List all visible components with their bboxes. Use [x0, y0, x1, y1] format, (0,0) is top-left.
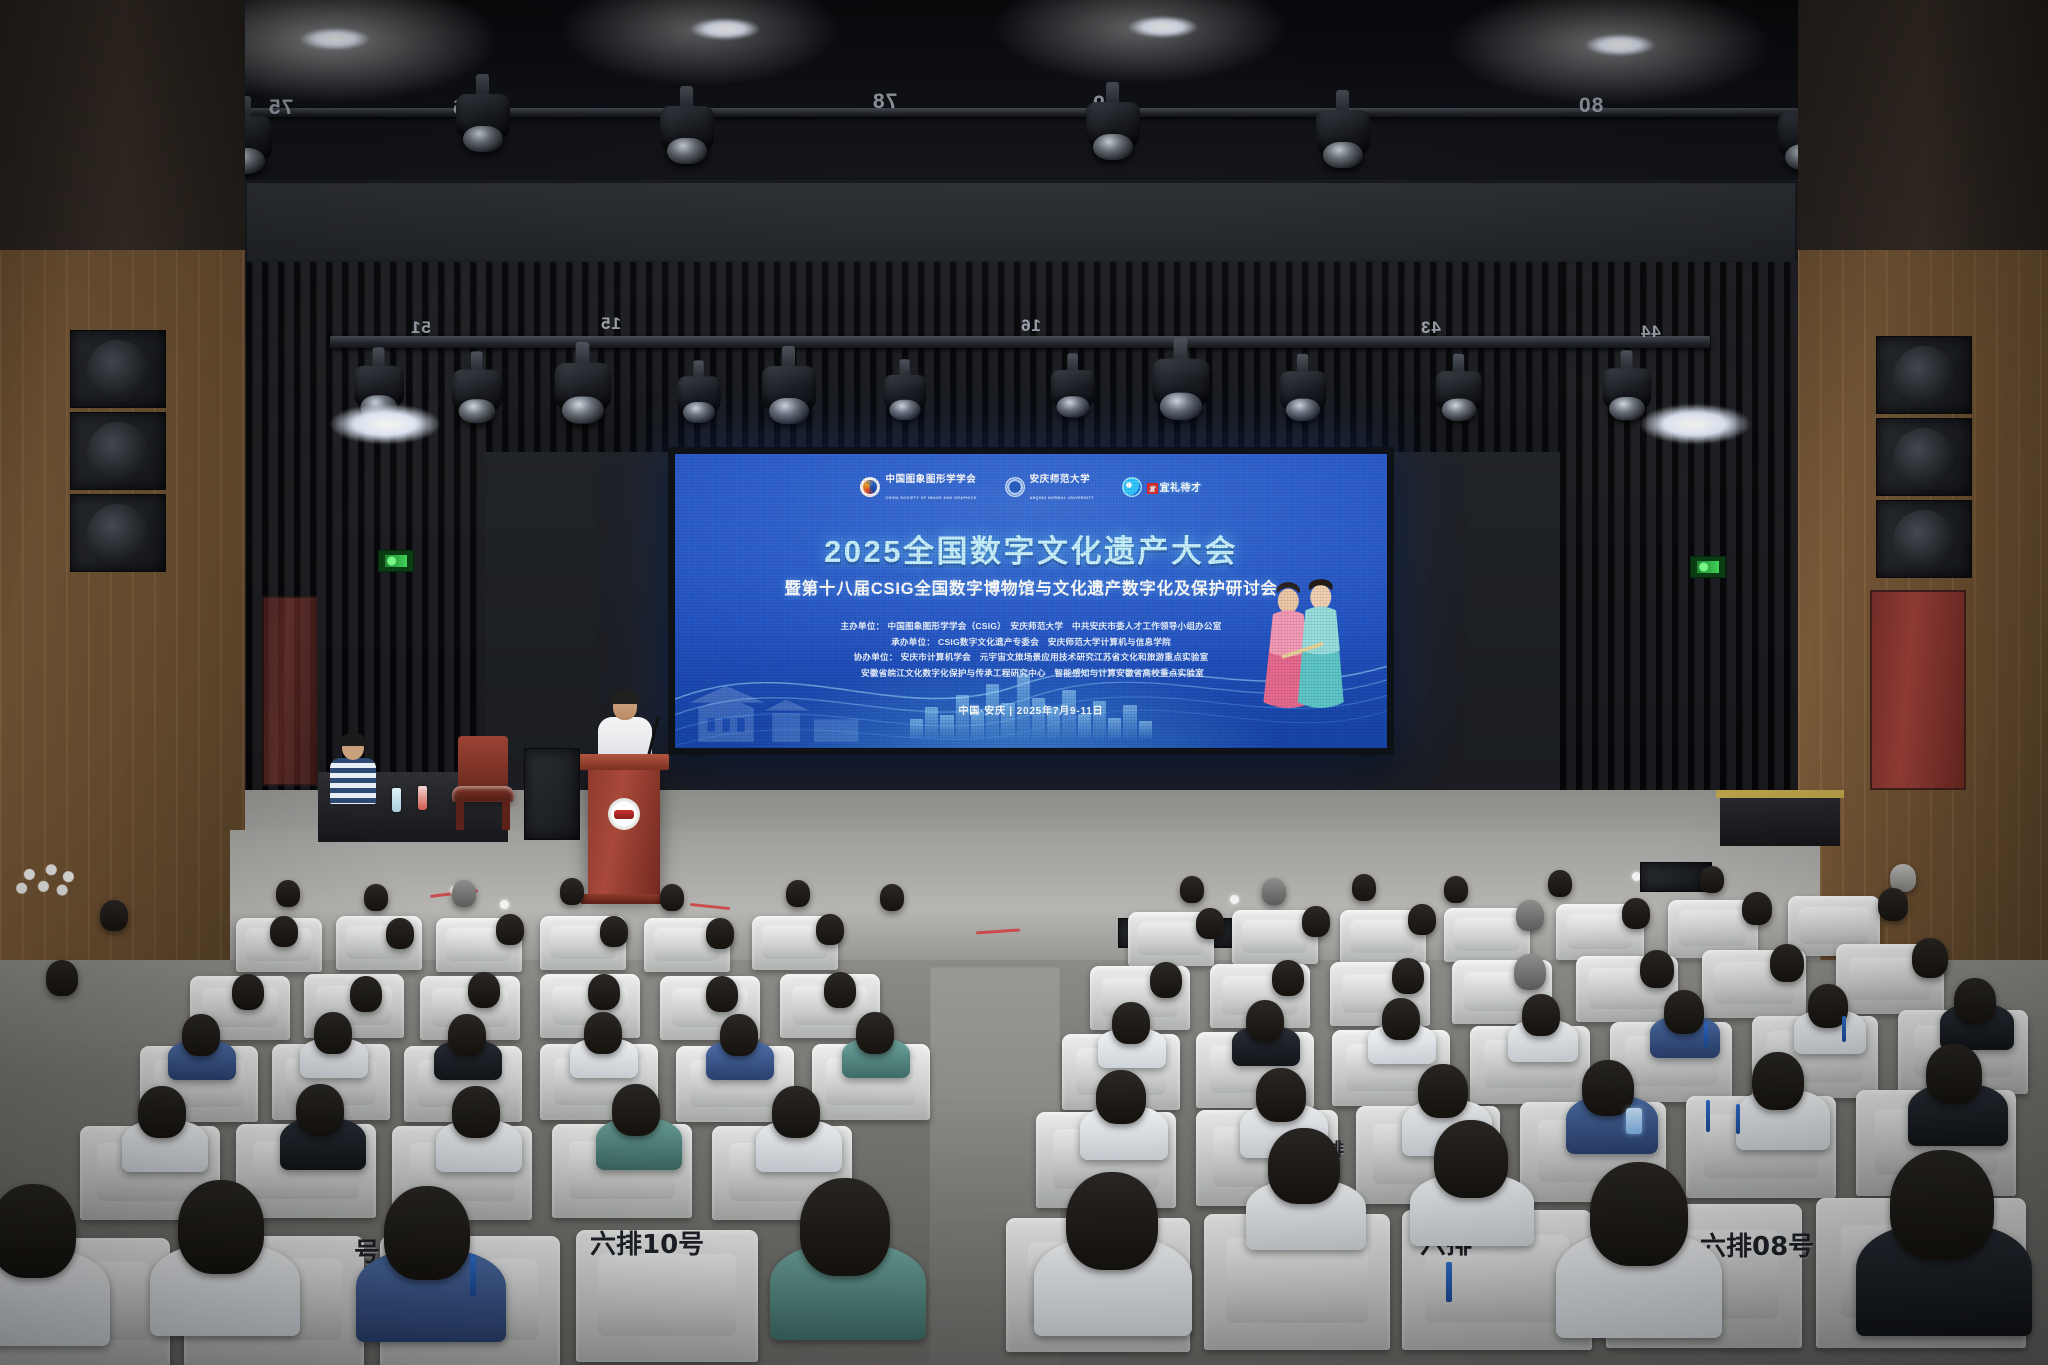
moving-head-light	[452, 351, 502, 428]
audience-head	[1590, 1162, 1688, 1266]
audience-head	[178, 1180, 264, 1274]
organizer-value: 安庆市计算机学会 元宇宙文旅场景应用技术研究江苏省文化和旅游重点实验室	[901, 652, 1209, 662]
lanyard	[1842, 1016, 1846, 1042]
logo-csig: 中国图象图形学学会 CHINA SOCIETY OF IMAGE AND GRA…	[860, 470, 976, 503]
moving-head-light	[1152, 337, 1209, 426]
audience-head	[0, 1184, 76, 1278]
conference-date-location: 中国·安庆 | 2025年7月9-11日	[675, 702, 1387, 717]
podium-emblem	[608, 798, 640, 830]
audience-head	[1352, 874, 1376, 901]
truss-number: 80	[1578, 94, 1603, 118]
lanyard	[470, 1254, 476, 1296]
lanyard	[1706, 1100, 1710, 1132]
running-man-icon	[385, 555, 407, 567]
stage-light-fixture	[456, 74, 510, 158]
wash-light-glow	[1640, 404, 1750, 444]
moving-head-light	[1603, 350, 1652, 426]
ceiling-truss-front	[330, 336, 1710, 348]
audience-head	[816, 914, 844, 945]
seat-label: 六排08号	[1700, 1226, 1814, 1263]
seat-label: 六排10号	[590, 1224, 704, 1261]
audience-head	[452, 1086, 500, 1138]
truss-number: 15	[600, 314, 621, 334]
led-screen: 中国图象图形学学会 CHINA SOCIETY OF IMAGE AND GRA…	[675, 454, 1387, 748]
logo-csig-cn: 中国图象图形学学会	[885, 474, 976, 485]
audience-head	[1954, 978, 1996, 1024]
audience-head	[706, 918, 734, 949]
organizer-key: 承办单位：	[891, 637, 935, 647]
side-door-left[interactable]	[262, 596, 318, 786]
stage-light-fixture	[1316, 90, 1370, 174]
organizer-key: 协办单位：	[854, 652, 898, 662]
truss-number: 44	[1640, 322, 1661, 342]
exit-sign-right	[1690, 556, 1726, 578]
audience-head	[1926, 1044, 1982, 1104]
audience-head	[46, 960, 78, 996]
podium	[588, 764, 660, 896]
water-bottle	[418, 786, 427, 810]
stage-monitor-speaker	[524, 748, 580, 840]
audience-head	[384, 1186, 470, 1280]
ceiling-lamp	[1585, 34, 1655, 56]
audience-head	[1268, 1128, 1340, 1204]
audience-head	[182, 1014, 220, 1056]
logo-csig-en: CHINA SOCIETY OF IMAGE AND GRAPHICS	[885, 496, 976, 500]
moving-head-light	[1051, 354, 1095, 423]
logo-anu-cn: 安庆师范大学	[1030, 474, 1091, 485]
audience-head	[468, 972, 500, 1008]
water-bottle	[392, 788, 401, 812]
audience-head	[584, 1012, 622, 1054]
audience-head	[1256, 1068, 1306, 1122]
audience-head	[1752, 1052, 1804, 1110]
audience-head	[1742, 892, 1772, 925]
audience-head	[1434, 1120, 1508, 1198]
conference-title: 2025全国数字文化遗产大会	[675, 526, 1387, 571]
audience-head	[786, 880, 810, 907]
audience-head	[800, 1178, 890, 1276]
organizer-value: 中国图象图形学学会（CSIG） 安庆师范大学 中共安庆市委人才工作领导小组办公室	[887, 621, 1221, 631]
audience-head	[296, 1084, 344, 1136]
audience-head	[1622, 898, 1650, 929]
audience-head	[1408, 904, 1436, 935]
audience-head	[1878, 888, 1908, 921]
stage-light-fixture	[660, 86, 714, 170]
logo-third-badge: 宜宜礼待才	[1147, 479, 1202, 494]
led-screen-frame: 中国图象图形学学会 CHINA SOCIETY OF IMAGE AND GRA…	[668, 447, 1394, 755]
auditorium-photo: 75 76 78 79 80 81 51 15 16 43 44	[0, 0, 2048, 1365]
audience-head	[1912, 938, 1948, 978]
audience-head	[1302, 906, 1330, 937]
seated-panelist	[330, 736, 376, 802]
anu-logo-icon	[1005, 477, 1025, 497]
audience-head	[138, 1086, 186, 1138]
side-table-right	[1720, 790, 1840, 846]
audience-head	[1112, 1002, 1150, 1044]
ceiling-lamp	[1128, 16, 1198, 38]
ceiling-lamp	[300, 28, 370, 50]
audience-head	[1890, 1150, 1994, 1260]
audience-head	[1096, 1070, 1146, 1124]
audience-head	[276, 880, 300, 907]
audience-head	[1582, 1060, 1634, 1116]
organizer-block: 主办单位：中国图象图形学学会（CSIG） 安庆师范大学 中共安庆市委人才工作领导…	[675, 619, 1387, 683]
audience-head	[270, 916, 298, 947]
audience-head	[1514, 954, 1546, 990]
audience-head	[1444, 876, 1468, 903]
audience-head	[1664, 990, 1704, 1034]
pa-speaker	[1876, 500, 1972, 578]
truss-number: 78	[872, 90, 897, 114]
audience-head	[880, 884, 904, 911]
audience-head	[1246, 1000, 1284, 1042]
ceiling-lamp	[690, 18, 760, 40]
audience-head	[824, 972, 856, 1008]
floor-dot-marker	[1230, 895, 1239, 904]
logo-anu-en: ANQING NORMAL UNIVERSITY	[1030, 496, 1094, 500]
audience-head	[560, 878, 584, 905]
truss-number: 51	[410, 318, 431, 338]
stage-curtain-top	[486, 262, 1560, 452]
audience-head	[496, 914, 524, 945]
pa-speaker	[70, 330, 166, 408]
wall-upper-left	[0, 0, 245, 250]
audience-head	[1262, 878, 1286, 905]
lanyard	[1446, 1262, 1452, 1302]
audience-head	[1770, 944, 1804, 982]
organizer-value: 安徽省皖江文化数字化保护与传承工程研究中心 智能感知与计算安徽省高校重点实验室	[861, 668, 1204, 678]
audience-head	[1522, 994, 1560, 1036]
lanyard	[1736, 1104, 1740, 1134]
stage-chair	[452, 736, 514, 828]
audience-head	[1382, 998, 1420, 1040]
audience-head	[1180, 876, 1204, 903]
pa-speaker	[1876, 336, 1972, 414]
logo-third-text: 宜礼待才	[1160, 483, 1202, 494]
wash-light-glow	[330, 404, 440, 444]
running-man-icon	[1697, 561, 1719, 573]
audience-head	[1640, 950, 1674, 988]
audience-head	[1700, 866, 1724, 893]
floor-dot-marker	[500, 900, 509, 909]
truss-number: 16	[1020, 316, 1041, 336]
stage-light-fixture	[1086, 82, 1140, 166]
third-logo-icon	[1122, 477, 1142, 497]
audience-head	[448, 1014, 486, 1056]
moving-head-light	[884, 359, 926, 425]
organizer-key: 主办单位：	[840, 621, 884, 631]
audience-head	[660, 884, 684, 911]
audience-head	[232, 974, 264, 1010]
audience-head	[720, 1014, 758, 1056]
audience-head	[1418, 1064, 1468, 1118]
audience-head	[600, 916, 628, 947]
audience-head	[1392, 958, 1424, 994]
pa-speaker	[1876, 418, 1972, 496]
csig-logo-icon	[860, 477, 880, 497]
audience-head	[364, 884, 388, 911]
audience-head	[772, 1086, 820, 1138]
moving-head-light	[762, 346, 816, 430]
organizer-line: 承办单位：CSIG数字文化遗产专委会 安庆师范大学计算机与信息学院	[675, 635, 1387, 651]
audience-head	[1066, 1172, 1158, 1270]
audience-head	[1516, 900, 1544, 931]
pa-speaker	[70, 494, 166, 572]
backwall-top-panel	[246, 182, 1796, 262]
side-door-right[interactable]	[1870, 590, 1966, 790]
smartphone[interactable]	[1626, 1108, 1642, 1134]
sponsor-logo-row: 中国图象图形学学会 CHINA SOCIETY OF IMAGE AND GRA…	[675, 470, 1387, 503]
audience-head	[856, 1012, 894, 1054]
exit-sign-left	[378, 550, 414, 572]
moving-head-light	[677, 360, 720, 427]
audience-head	[1548, 870, 1572, 897]
logo-badge-square: 宜	[1147, 483, 1158, 494]
moving-head-light	[1436, 354, 1482, 426]
organizer-line: 主办单位：中国图象图形学学会（CSIG） 安庆师范大学 中共安庆市委人才工作领导…	[675, 619, 1387, 635]
logo-anqing-normal-university: 安庆师范大学 ANQING NORMAL UNIVERSITY	[1005, 470, 1094, 503]
lanyard	[1704, 1022, 1708, 1048]
logo-third-sponsor: 宜宜礼待才	[1122, 477, 1202, 497]
audience-head	[386, 918, 414, 949]
audience-head	[612, 1084, 660, 1136]
pa-speaker	[70, 412, 166, 490]
organizer-line: 安徽省皖江文化数字化保护与传承工程研究中心 智能感知与计算安徽省高校重点实验室	[675, 666, 1387, 682]
audience-head	[452, 880, 476, 907]
audience-head	[350, 976, 382, 1012]
ceiling-truss-rear	[0, 108, 2048, 117]
audience-head	[1150, 962, 1182, 998]
truss-number: 43	[1420, 318, 1441, 338]
organizer-line: 协办单位：安庆市计算机学会 元宇宙文旅场景应用技术研究江苏省文化和旅游重点实验室	[675, 650, 1387, 666]
audience-head	[706, 976, 738, 1012]
audience-head	[1196, 908, 1224, 939]
audience-head	[314, 1012, 352, 1054]
wall-upper-right	[1798, 0, 2048, 250]
moving-head-light	[555, 342, 612, 430]
audience-head	[100, 900, 128, 931]
moving-head-light	[1280, 354, 1326, 426]
organizer-value: CSIG数字文化遗产专委会 安庆师范大学计算机与信息学院	[938, 637, 1171, 647]
audience-head	[588, 974, 620, 1010]
flower-arrangement	[6, 856, 84, 902]
audience-head	[1272, 960, 1304, 996]
conference-subtitle: 暨第十八届CSIG全国数字博物馆与文化遗产数字化及保护研讨会	[675, 575, 1387, 599]
